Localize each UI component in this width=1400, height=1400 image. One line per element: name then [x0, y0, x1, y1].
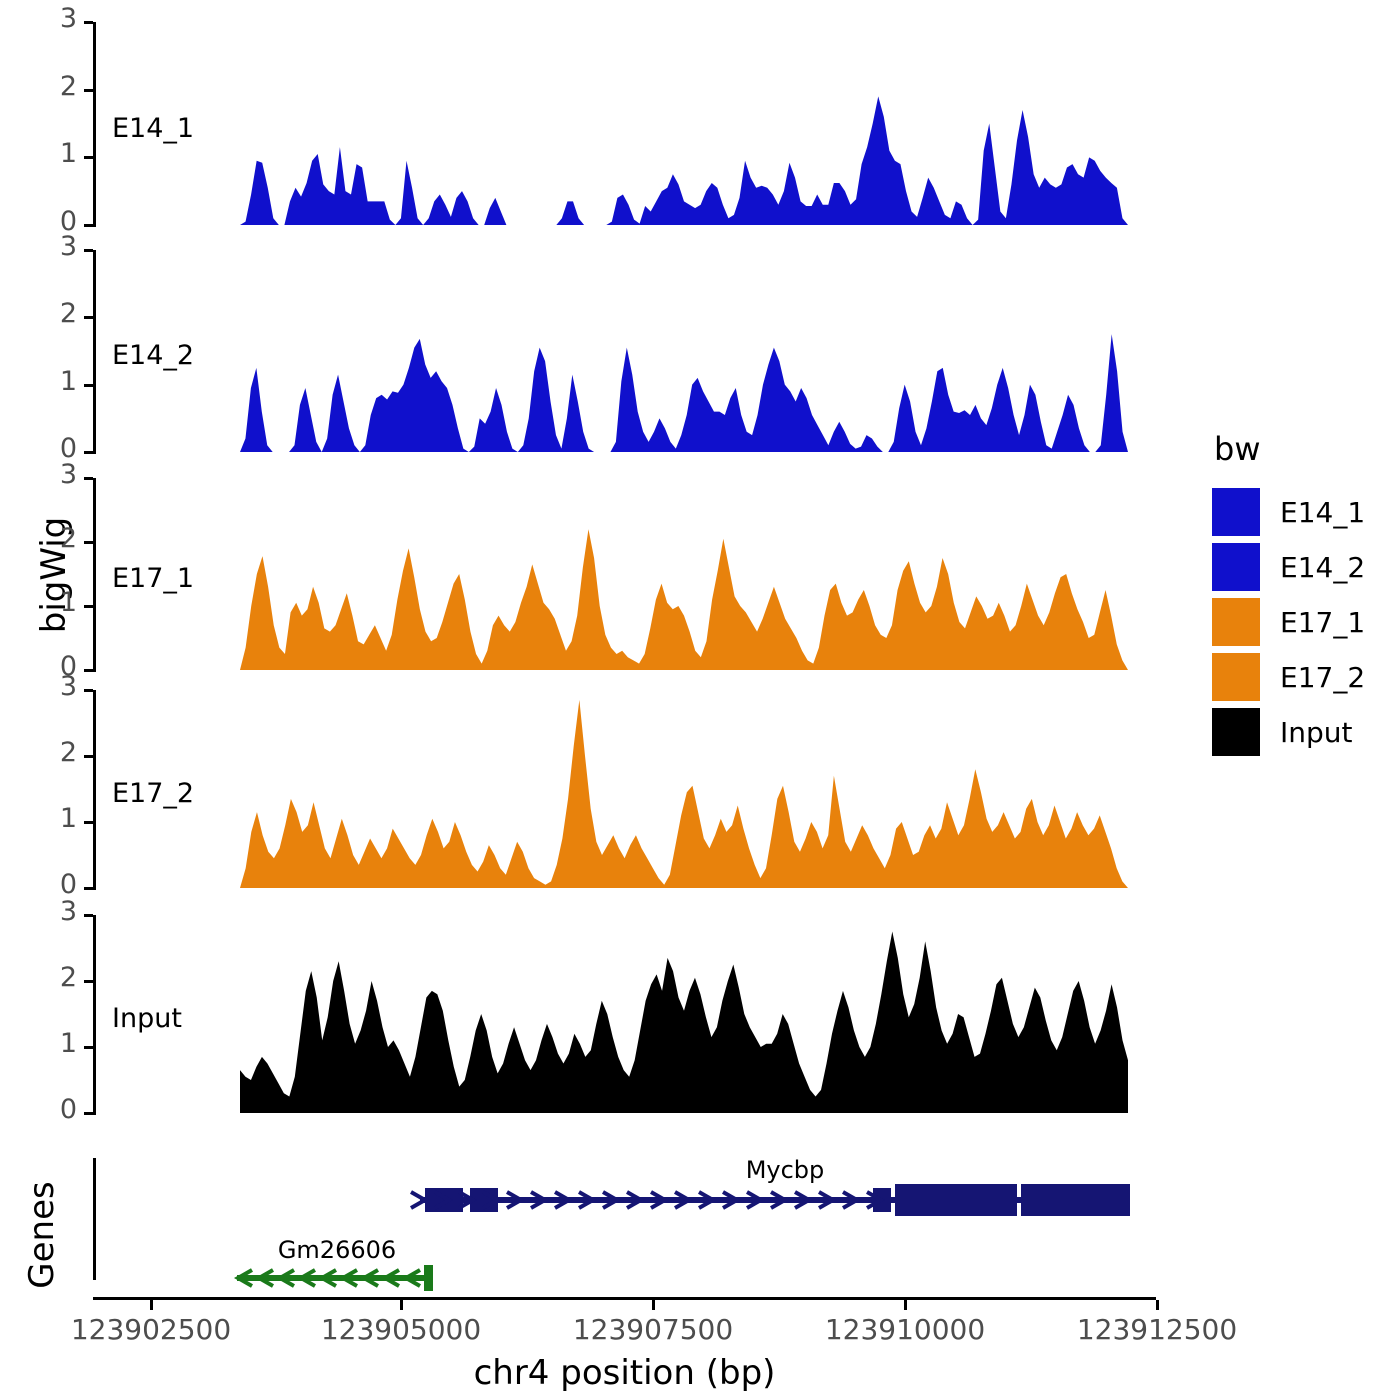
mycbp-exon — [425, 1188, 463, 1212]
x-tick — [652, 1300, 655, 1310]
x-tick-label: 123905000 — [321, 1313, 481, 1346]
legend-swatch — [1212, 598, 1260, 646]
genes-axis-line — [93, 1158, 96, 1280]
x-tick — [150, 1300, 153, 1310]
gm26606-exon — [424, 1265, 433, 1291]
gm26606-gene-label: Gm26606 — [278, 1236, 396, 1264]
x-axis-title: chr4 position (bp) — [93, 1353, 1156, 1393]
legend-label: E17_2 — [1280, 661, 1365, 694]
genes-svg: MycbpGm26606 — [0, 1150, 1400, 1310]
legend-label: E14_2 — [1280, 551, 1365, 584]
x-tick-label: 123902500 — [71, 1313, 231, 1346]
mycbp-exon — [1021, 1184, 1130, 1216]
legend-label: E14_1 — [1280, 496, 1365, 529]
legend: bw E14_1E14_2E17_1E17_2Input — [1212, 430, 1392, 761]
x-tick — [400, 1300, 403, 1310]
x-axis-line — [93, 1297, 1156, 1300]
x-tick — [904, 1300, 907, 1310]
legend-item-e14_2[interactable]: E14_2 — [1212, 541, 1392, 593]
genes-panel: MycbpGm26606 — [0, 1150, 1400, 1310]
x-tick — [1156, 1300, 1159, 1310]
mycbp-gene-label: Mycbp — [746, 1156, 825, 1184]
legend-swatch — [1212, 653, 1260, 701]
x-tick-label: 123910000 — [825, 1313, 985, 1346]
legend-title: bw — [1214, 430, 1392, 468]
legend-item-e14_1[interactable]: E14_1 — [1212, 486, 1392, 538]
strand-arrow-icon — [411, 1192, 425, 1208]
legend-swatch — [1212, 488, 1260, 536]
legend-item-e17_2[interactable]: E17_2 — [1212, 651, 1392, 703]
legend-item-input[interactable]: Input — [1212, 706, 1392, 758]
x-tick-label: 123907500 — [573, 1313, 733, 1346]
legend-item-e17_1[interactable]: E17_1 — [1212, 596, 1392, 648]
legend-swatch — [1212, 708, 1260, 756]
legend-label: Input — [1280, 716, 1353, 749]
x-tick-label: 123912500 — [1077, 1313, 1237, 1346]
legend-items: E14_1E14_2E17_1E17_2Input — [1212, 486, 1392, 758]
legend-swatch — [1212, 543, 1260, 591]
mycbp-exon — [895, 1184, 1017, 1216]
legend-label: E17_1 — [1280, 606, 1365, 639]
bigwig-track-input: 0123Input — [0, 0, 1400, 1]
